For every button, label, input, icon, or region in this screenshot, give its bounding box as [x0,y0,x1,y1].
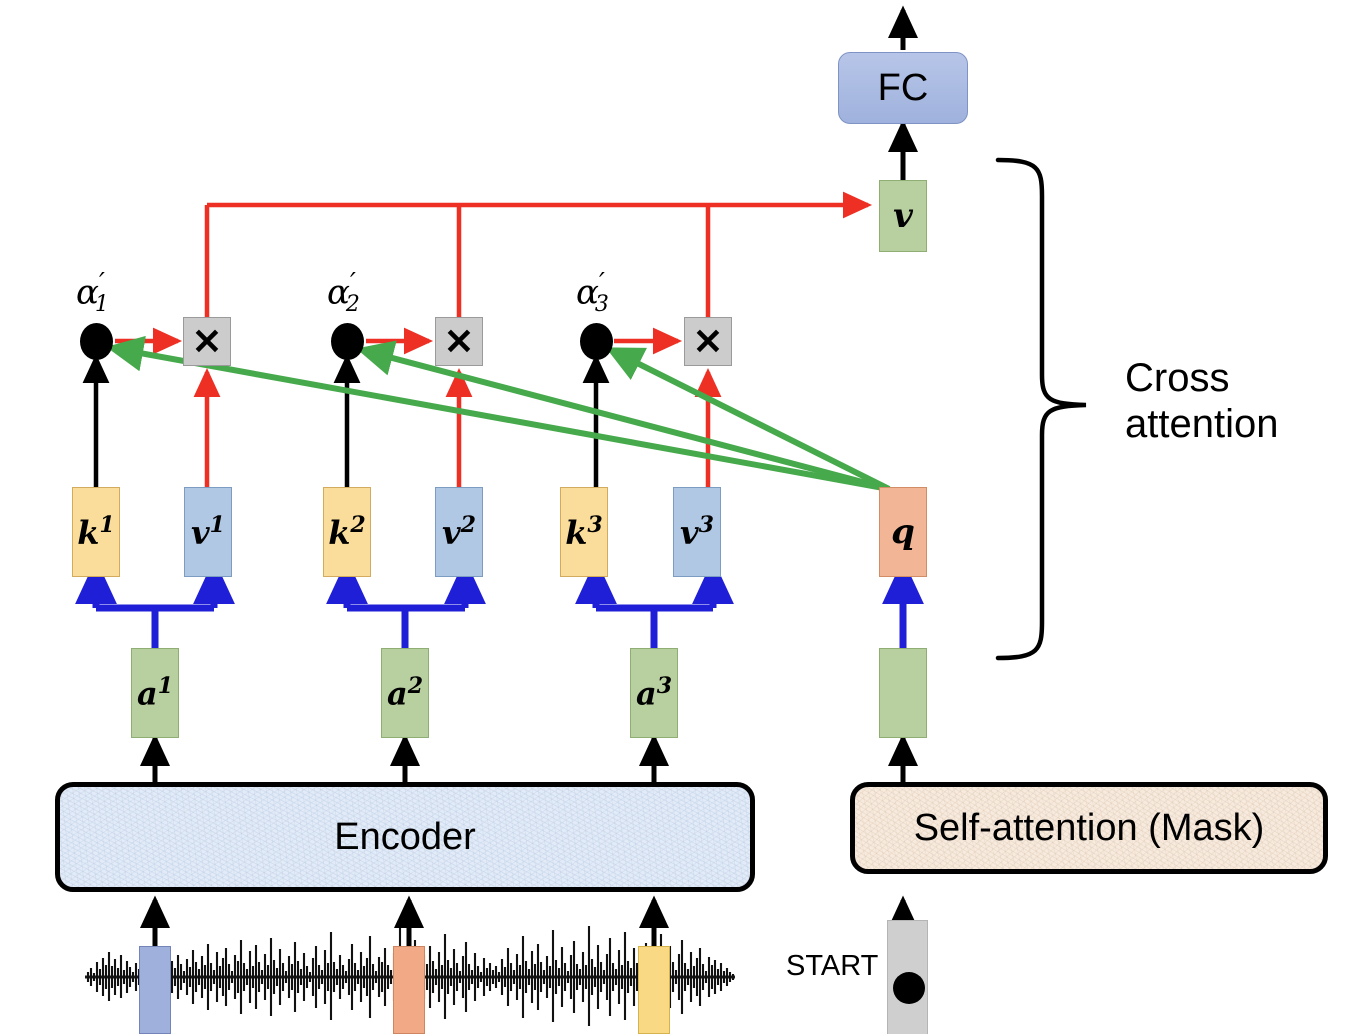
cross-attention-label: Cross attention [1125,355,1278,447]
output-value-box: v [879,180,927,252]
alpha-label-3: α′3 [576,268,609,317]
encoder-block[interactable]: Encoder [55,782,755,892]
cross-attention-line-2: attention [1125,401,1278,447]
activation-split-connectors [96,565,903,648]
cross-attention-line-1: Cross [1125,355,1278,401]
waveform-segment-3 [638,946,670,1034]
multiply-box-2: ✕ [435,317,483,366]
fc-block[interactable]: FC [838,52,968,124]
value-label-2: v2 [442,512,476,552]
self-attention-block[interactable]: Self-attention (Mask) [850,782,1328,874]
value-box-3: v3 [673,487,721,577]
weighted-sum-bus [207,205,868,318]
key-label-3: k3 [565,512,602,552]
key-box-1: k1 [72,487,120,577]
value-label-1: v1 [191,512,225,552]
start-token-dot [893,972,925,1004]
diagram-canvas: FC v α′1 α′2 α′3 ✕ ✕ ✕ k1 k2 k3 v1 v2 v3… [0,0,1368,1034]
value-label-3: v3 [680,512,714,552]
waveform-segment-2 [393,946,425,1034]
activation-box-3: a3 [630,648,678,738]
query-box: q [879,487,927,577]
multiply-box-1: ✕ [183,317,231,366]
decoder-hidden-box [879,648,927,738]
query-label: q [891,512,915,552]
key-box-3: k3 [560,487,608,577]
attention-score-dot-3 [580,323,613,360]
start-token-label: START [786,950,878,983]
activation-label-1: a1 [137,673,173,713]
activation-box-1: a1 [131,648,179,738]
alpha-label-2: α′2 [327,268,360,317]
activation-box-2: a2 [381,648,429,738]
multiply-box-3: ✕ [684,317,732,366]
waveform-segment-1 [139,946,171,1034]
value-box-2: v2 [435,487,483,577]
attention-score-dot-1 [80,323,113,360]
query-to-alpha-arrows [112,348,889,489]
waveform-to-encoder-arrows [155,900,654,952]
cross-attention-brace [998,160,1086,658]
key-box-2: k2 [323,487,371,577]
value-box-1: v1 [184,487,232,577]
encoder-to-activation-arrows [155,738,654,782]
value-to-multiply-arrows [207,372,708,487]
activation-label-3: a3 [636,673,672,713]
key-label-1: k1 [77,512,114,552]
activation-label-2: a2 [387,673,423,713]
alpha-label-1: α′1 [76,268,109,317]
output-value-label: v [893,196,913,236]
key-label-2: k2 [328,512,365,552]
attention-score-dot-2 [331,323,364,360]
